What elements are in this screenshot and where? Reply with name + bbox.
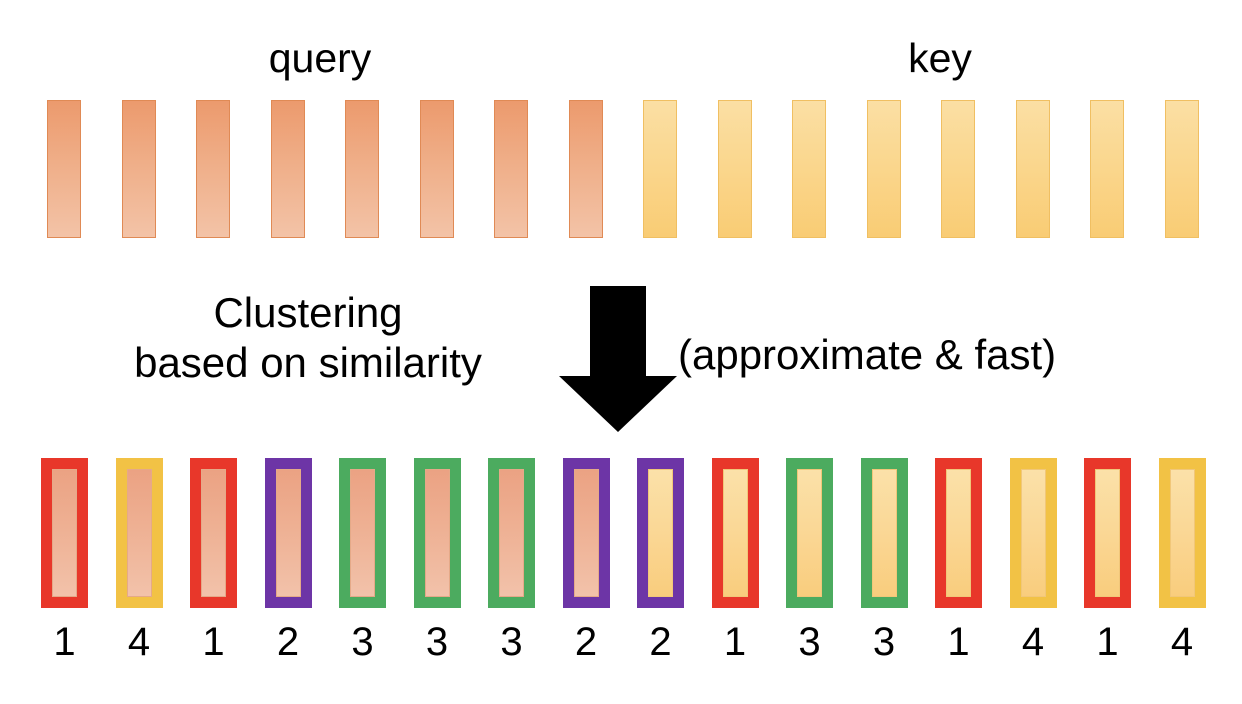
clustered-bar	[265, 458, 312, 608]
cluster-number-row: 1412333221331414	[0, 618, 1242, 678]
cluster-id-label: 3	[407, 618, 467, 666]
key-bar-inner	[797, 469, 822, 597]
cluster-id-label: 2	[631, 618, 691, 666]
clustering-caption: Clustering based on similarity	[58, 288, 558, 388]
clustered-bar	[41, 458, 88, 608]
cluster-id-label: 3	[333, 618, 393, 666]
cluster-id-label: 2	[258, 618, 318, 666]
query-bar	[569, 100, 603, 238]
key-bar-inner	[1095, 469, 1120, 597]
clustering-caption-line1: Clustering	[213, 289, 402, 336]
query-bar	[196, 100, 230, 238]
cluster-id-label: 3	[780, 618, 840, 666]
query-bar-inner	[574, 469, 599, 597]
approximate-note: (approximate & fast)	[678, 330, 1056, 380]
clustered-bar	[116, 458, 163, 608]
clustered-bar	[339, 458, 386, 608]
cluster-id-label: 4	[1003, 618, 1063, 666]
query-bar	[345, 100, 379, 238]
key-bar-inner	[648, 469, 673, 597]
query-bar	[494, 100, 528, 238]
clustered-bar	[935, 458, 982, 608]
query-bar-inner	[350, 469, 375, 597]
key-bar	[643, 100, 677, 238]
clustering-caption-line2: based on similarity	[58, 338, 558, 388]
key-bar	[792, 100, 826, 238]
query-bar-inner	[52, 469, 77, 597]
clustered-bar	[563, 458, 610, 608]
clustered-bar-row	[0, 458, 1242, 610]
query-bar-inner	[425, 469, 450, 597]
query-bar-inner	[201, 469, 226, 597]
cluster-id-label: 3	[482, 618, 542, 666]
key-bar	[718, 100, 752, 238]
query-label: query	[0, 38, 640, 79]
key-bar-inner	[946, 469, 971, 597]
clustered-bar	[488, 458, 535, 608]
query-bar	[47, 100, 81, 238]
diagram-canvas: query key Clustering based on similarity…	[0, 0, 1242, 704]
down-arrow-icon	[559, 286, 677, 432]
clustered-bar	[414, 458, 461, 608]
cluster-id-label: 4	[109, 618, 169, 666]
key-bar	[941, 100, 975, 238]
cluster-id-label: 2	[556, 618, 616, 666]
clustered-bar	[861, 458, 908, 608]
key-label: key	[620, 38, 1242, 79]
key-bar	[1016, 100, 1050, 238]
key-bar-inner	[872, 469, 897, 597]
clustered-bar	[712, 458, 759, 608]
cluster-id-label: 1	[35, 618, 95, 666]
query-bar	[271, 100, 305, 238]
cluster-id-label: 3	[854, 618, 914, 666]
query-bar	[122, 100, 156, 238]
cluster-id-label: 1	[929, 618, 989, 666]
clustered-bar	[1010, 458, 1057, 608]
query-bar-inner	[127, 469, 152, 597]
cluster-id-label: 1	[184, 618, 244, 666]
clustered-bar	[786, 458, 833, 608]
cluster-id-label: 1	[705, 618, 765, 666]
key-bar-inner	[1170, 469, 1195, 597]
cluster-id-label: 4	[1152, 618, 1212, 666]
clustered-bar	[1084, 458, 1131, 608]
cluster-id-label: 1	[1078, 618, 1138, 666]
key-bar-inner	[1021, 469, 1046, 597]
clustered-bar	[1159, 458, 1206, 608]
top-bar-row	[0, 100, 1242, 240]
query-bar-inner	[276, 469, 301, 597]
clustered-bar	[637, 458, 684, 608]
query-bar	[420, 100, 454, 238]
query-bar-inner	[499, 469, 524, 597]
clustered-bar	[190, 458, 237, 608]
key-bar	[1090, 100, 1124, 238]
key-bar	[867, 100, 901, 238]
key-bar-inner	[723, 469, 748, 597]
key-bar	[1165, 100, 1199, 238]
